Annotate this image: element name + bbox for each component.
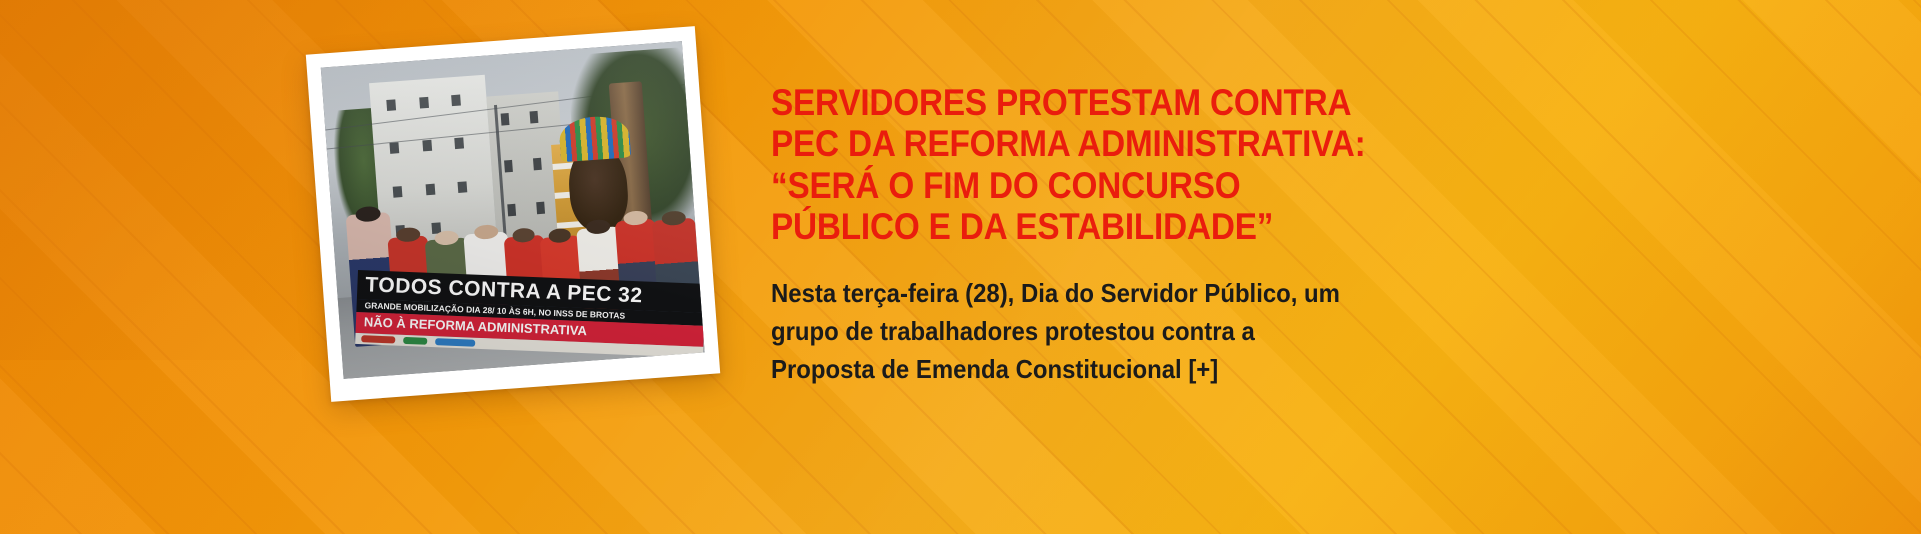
article-headline[interactable]: SERVIDORES PROTESTAM CONTRA PEC DA REFOR… [771,82,1392,247]
news-banner: TODOS CONTRA A PEC 32 GRANDE MOBILIZAÇÃO… [0,0,1921,534]
sindprevs-logo-icon [362,335,396,343]
article-photo: TODOS CONTRA A PEC 32 GRANDE MOBILIZAÇÃO… [321,41,705,379]
partner-logo-icon [436,338,476,347]
article-excerpt[interactable]: Nesta terça-feira (28), Dia do Servidor … [771,247,1346,389]
cut-logo-icon [404,337,428,345]
photo-protest-banner: TODOS CONTRA A PEC 32 GRANDE MOBILIZAÇÃO… [356,270,705,358]
article-text-column: SERVIDORES PROTESTAM CONTRA PEC DA REFOR… [771,82,1391,389]
article-photo-frame[interactable]: TODOS CONTRA A PEC 32 GRANDE MOBILIZAÇÃO… [306,26,720,402]
